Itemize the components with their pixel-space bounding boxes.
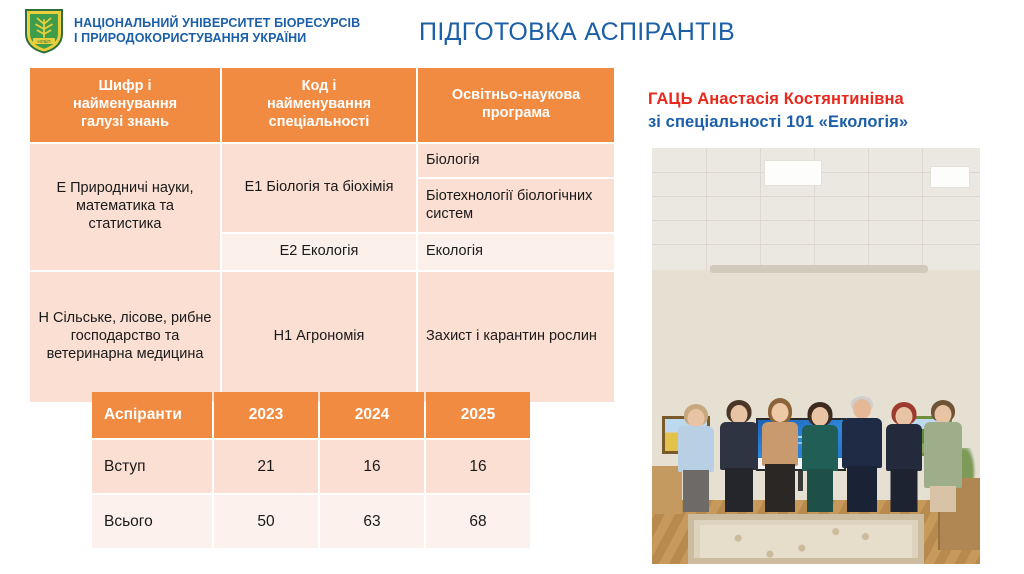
person-legs [765, 464, 795, 512]
cell-specialty-h1: Н1 Агрономія [222, 272, 416, 402]
stats-cell: 16 [426, 440, 530, 493]
person-figure [800, 402, 840, 512]
person-torso [802, 425, 838, 471]
cell-program-plant-protection: Захист і карантин рослин [418, 272, 614, 402]
ceiling-beam [710, 265, 928, 273]
stats-header-year-2023: 2023 [214, 392, 318, 438]
person-figure [840, 396, 884, 512]
stats-cell: 63 [320, 495, 424, 548]
cell-specialty-e2: Е2 Екологія [222, 234, 416, 270]
person-torso [842, 418, 882, 468]
header-line: спеціальності [230, 114, 408, 132]
header-line: галузі знань [38, 114, 212, 132]
stats-cell: 16 [320, 440, 424, 493]
stats-row-admission: Вступ 21 16 16 [92, 440, 530, 493]
column-header-program: Освітньо-наукова програма [418, 68, 614, 142]
person-head [772, 403, 789, 422]
header-line: найменування [38, 96, 212, 114]
ceiling-grid-line [652, 196, 980, 197]
person-torso [720, 422, 758, 470]
header-line: Шифр і [38, 78, 212, 96]
stats-row-total: Всього 50 63 68 [92, 495, 530, 548]
rug-pattern [700, 525, 912, 558]
table-header-row: Шифр і найменування галузі знань Код і н… [30, 68, 614, 142]
page-title: ПІДГОТОВКА АСПІРАНТІВ [0, 18, 1024, 47]
cell-program-biology: Біологія [418, 144, 614, 177]
person-figure [676, 404, 716, 512]
floor-rug [688, 514, 924, 564]
person-figure [760, 398, 800, 512]
stats-cell: 21 [214, 440, 318, 493]
person-figure [922, 400, 964, 512]
person-specialty: зі спеціальності 101 «Екологія» [648, 113, 908, 132]
slide-root: НУБіП НАЦІОНАЛЬНИЙ УНІВЕРСИТЕТ БІОРЕСУРС… [0, 0, 1024, 574]
stats-header-label: Аспіранти [92, 392, 212, 438]
person-legs [807, 469, 833, 512]
person-legs [725, 468, 753, 512]
ceiling-grid-line [868, 148, 869, 270]
person-legs [891, 469, 918, 512]
column-header-branch: Шифр і найменування галузі знань [30, 68, 220, 142]
person-legs [930, 486, 956, 512]
person-legs [683, 470, 709, 512]
ceiling-grid-line [652, 244, 980, 245]
ceiling-grid-line [760, 148, 761, 270]
stats-header-year-2024: 2024 [320, 392, 424, 438]
programs-table: Шифр і найменування галузі знань Код і н… [28, 66, 616, 404]
person-head [853, 399, 871, 419]
header-line: найменування [230, 96, 408, 114]
person-figure [718, 400, 760, 512]
postgraduates-stats-table: Аспіранти 2023 2024 2025 Вступ 21 16 16 … [90, 390, 532, 550]
ceiling-grid-line [922, 148, 923, 270]
stats-row-label: Вступ [92, 440, 212, 493]
person-torso [678, 426, 714, 472]
header-line: Освітньо-наукова [426, 87, 606, 105]
cell-branch-h: Н Сільське, лісове, рибне господарство т… [30, 272, 220, 402]
ceiling-light-panel [930, 166, 970, 188]
person-torso [886, 424, 922, 471]
stats-header-year-2025: 2025 [426, 392, 530, 438]
header-line: Код і [230, 78, 408, 96]
stats-cell: 68 [426, 495, 530, 548]
person-torso [924, 422, 962, 488]
table-row: Е Природничі науки, математика та статис… [30, 144, 614, 177]
stats-cell: 50 [214, 495, 318, 548]
cell-branch-e: Е Природничі науки, математика та статис… [30, 144, 220, 270]
table-row: Н Сільське, лісове, рибне господарство т… [30, 272, 614, 402]
cell-program-ecology: Екологія [418, 234, 614, 270]
ceiling-grid-line [652, 220, 980, 221]
ceiling-light-panel [764, 160, 822, 186]
stats-row-label: Всього [92, 495, 212, 548]
person-name: ГАЦЬ Анастасія Костянтинівна [648, 90, 904, 109]
cell-specialty-e1: Е1 Біологія та біохімія [222, 144, 416, 232]
person-legs [847, 466, 877, 512]
stats-header-row: Аспіранти 2023 2024 2025 [92, 392, 530, 438]
cell-program-biotech: Біотехнології біологічних систем [418, 179, 614, 232]
person-torso [762, 422, 798, 466]
header-line: програма [426, 105, 606, 123]
person-head [812, 407, 829, 426]
ceiling-grid-line [706, 148, 707, 270]
person-figure [884, 402, 924, 512]
column-header-specialty: Код і найменування спеціальності [222, 68, 416, 142]
group-photo [652, 148, 980, 564]
